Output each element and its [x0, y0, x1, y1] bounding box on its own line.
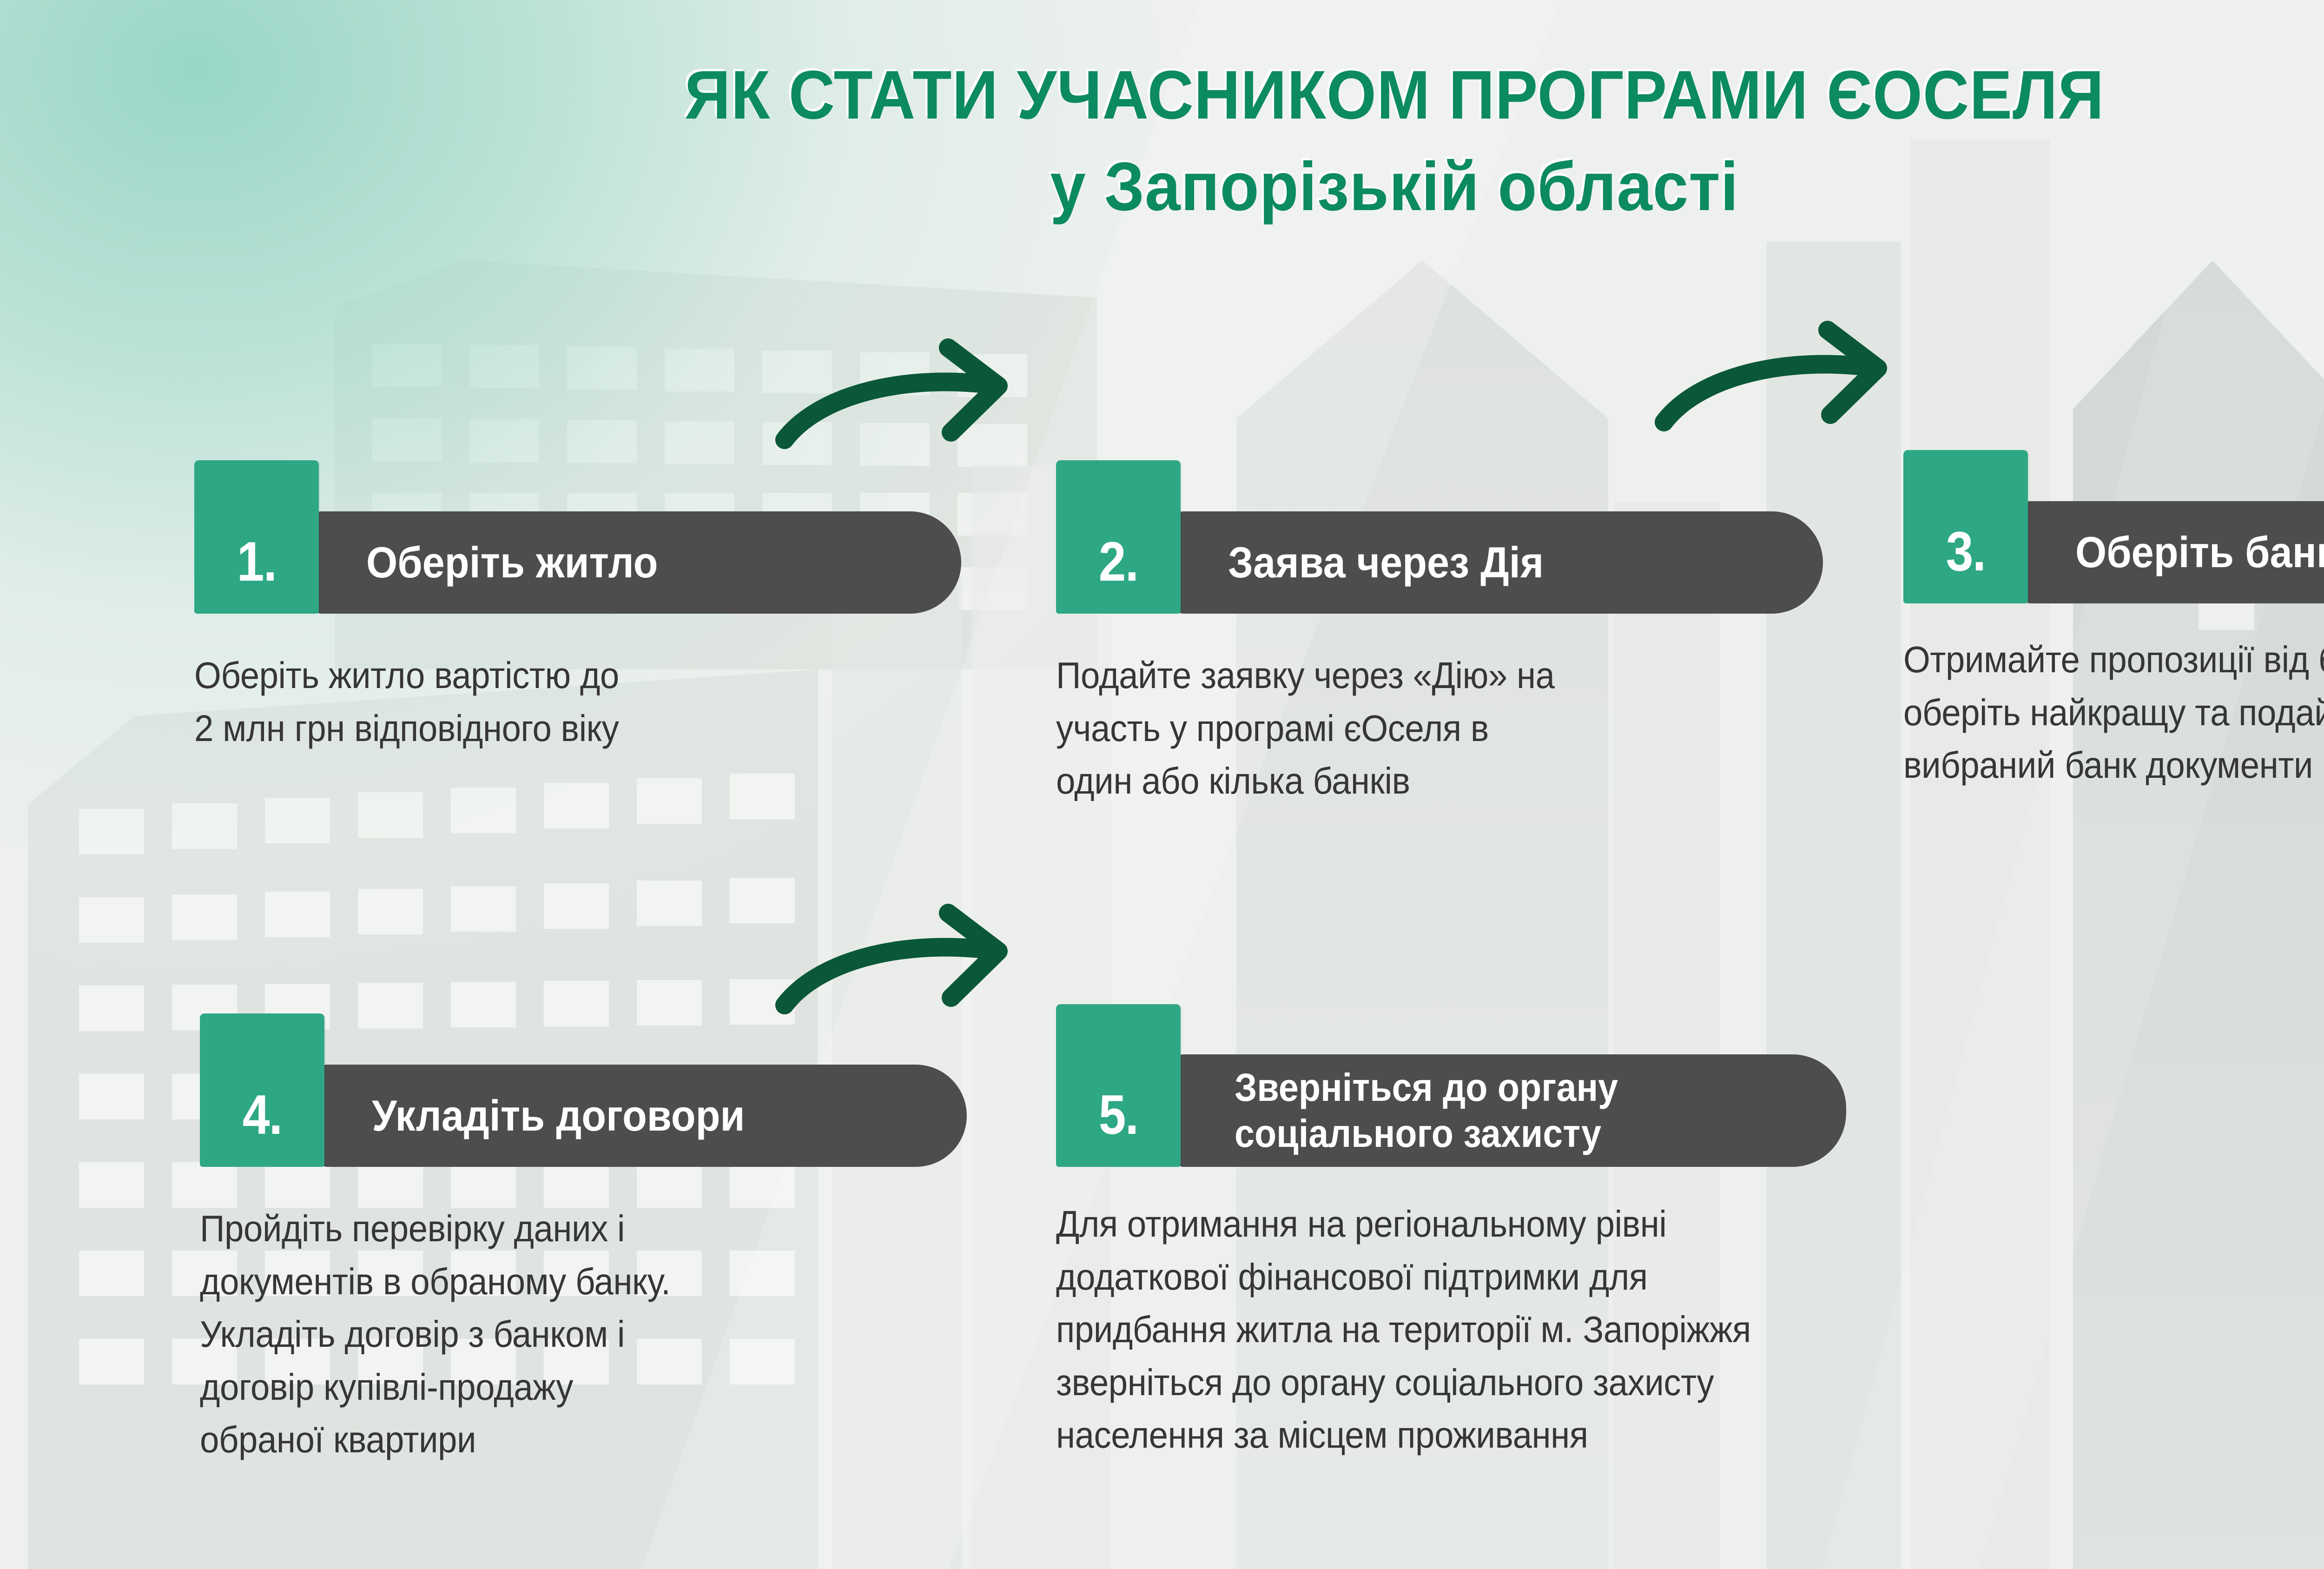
- step-number-badge-5: 5.: [1056, 1004, 1181, 1167]
- step-number-badge-3: 3.: [1903, 450, 2028, 603]
- step-card-2[interactable]: 2. Заява через Дія Подайте заявку через …: [1056, 460, 1823, 808]
- step-number-2: 2.: [1099, 534, 1138, 614]
- title-line-2: у Запорізькій області: [98, 152, 2324, 222]
- step-title-1: Оберіть житло: [366, 540, 658, 585]
- step-header-4: 4. Укладіть договори: [200, 1013, 967, 1167]
- step-header-2: 2. Заява через Дія: [1056, 460, 1823, 614]
- step-card-5[interactable]: 5. Зверніться до органу соціального захи…: [1056, 1004, 1846, 1462]
- step-title-bar-1: Оберіть житло: [314, 511, 961, 614]
- step-number-3: 3.: [1946, 523, 1986, 603]
- step-number-1: 1.: [237, 534, 277, 614]
- step-card-1[interactable]: 1. Оберіть житло Оберіть житло вартістю …: [194, 460, 961, 755]
- step-description-4: Пройдіть перевірку даних і документів в …: [200, 1202, 913, 1466]
- step-title-bar-2: Заява через Дія: [1176, 511, 1823, 614]
- step-card-4[interactable]: 4. Укладіть договори Пройдіть перевірку …: [200, 1013, 967, 1466]
- step-title-3: Оберіть банк: [2075, 530, 2324, 575]
- step-description-5: Для отримання на регіональному рівні дод…: [1056, 1198, 1942, 1462]
- title-line-1: ЯК СТАТИ УЧАСНИКОМ ПРОГРАМИ ЄОСЕЛЯ: [98, 60, 2324, 131]
- step-description-3: Отримайте пропозиції від банків, оберіть…: [1903, 633, 2324, 792]
- step-title-bar-3: Оберіть банк: [2023, 501, 2324, 603]
- step-description-2: Подайте заявку через «Дію» на участь у п…: [1056, 649, 1769, 808]
- step-description-1: Оберіть житло вартістю до 2 млн грн відп…: [194, 649, 908, 755]
- step-number-badge-4: 4.: [200, 1013, 324, 1167]
- step-header-5: 5. Зверніться до органу соціального захи…: [1056, 1004, 1846, 1167]
- step-header-3: 3. Оберіть банк: [1903, 450, 2324, 603]
- step-number-badge-2: 2.: [1056, 460, 1181, 614]
- step-number-4: 4.: [243, 1087, 282, 1167]
- step-title-2: Заява через Дія: [1228, 540, 1544, 585]
- step-card-3[interactable]: 3. Оберіть банк Отримайте пропозиції від…: [1903, 450, 2324, 792]
- step-title-4: Укладіть договори: [372, 1093, 745, 1138]
- steps-container: 1. Оберіть житло Оберіть житло вартістю …: [0, 0, 2324, 1569]
- step-title-bar-5: Зверніться до органу соціального захисту: [1176, 1054, 1846, 1167]
- step-header-1: 1. Оберіть житло: [194, 460, 961, 614]
- step-title-bar-4: Укладіть договори: [320, 1065, 967, 1167]
- page-title: ЯК СТАТИ УЧАСНИКОМ ПРОГРАМИ ЄОСЕЛЯ у Зап…: [0, 60, 2324, 222]
- step-number-5: 5.: [1099, 1087, 1138, 1167]
- step-title-5: Зверніться до органу соціального захисту: [1235, 1065, 1618, 1157]
- step-number-badge-1: 1.: [194, 460, 319, 614]
